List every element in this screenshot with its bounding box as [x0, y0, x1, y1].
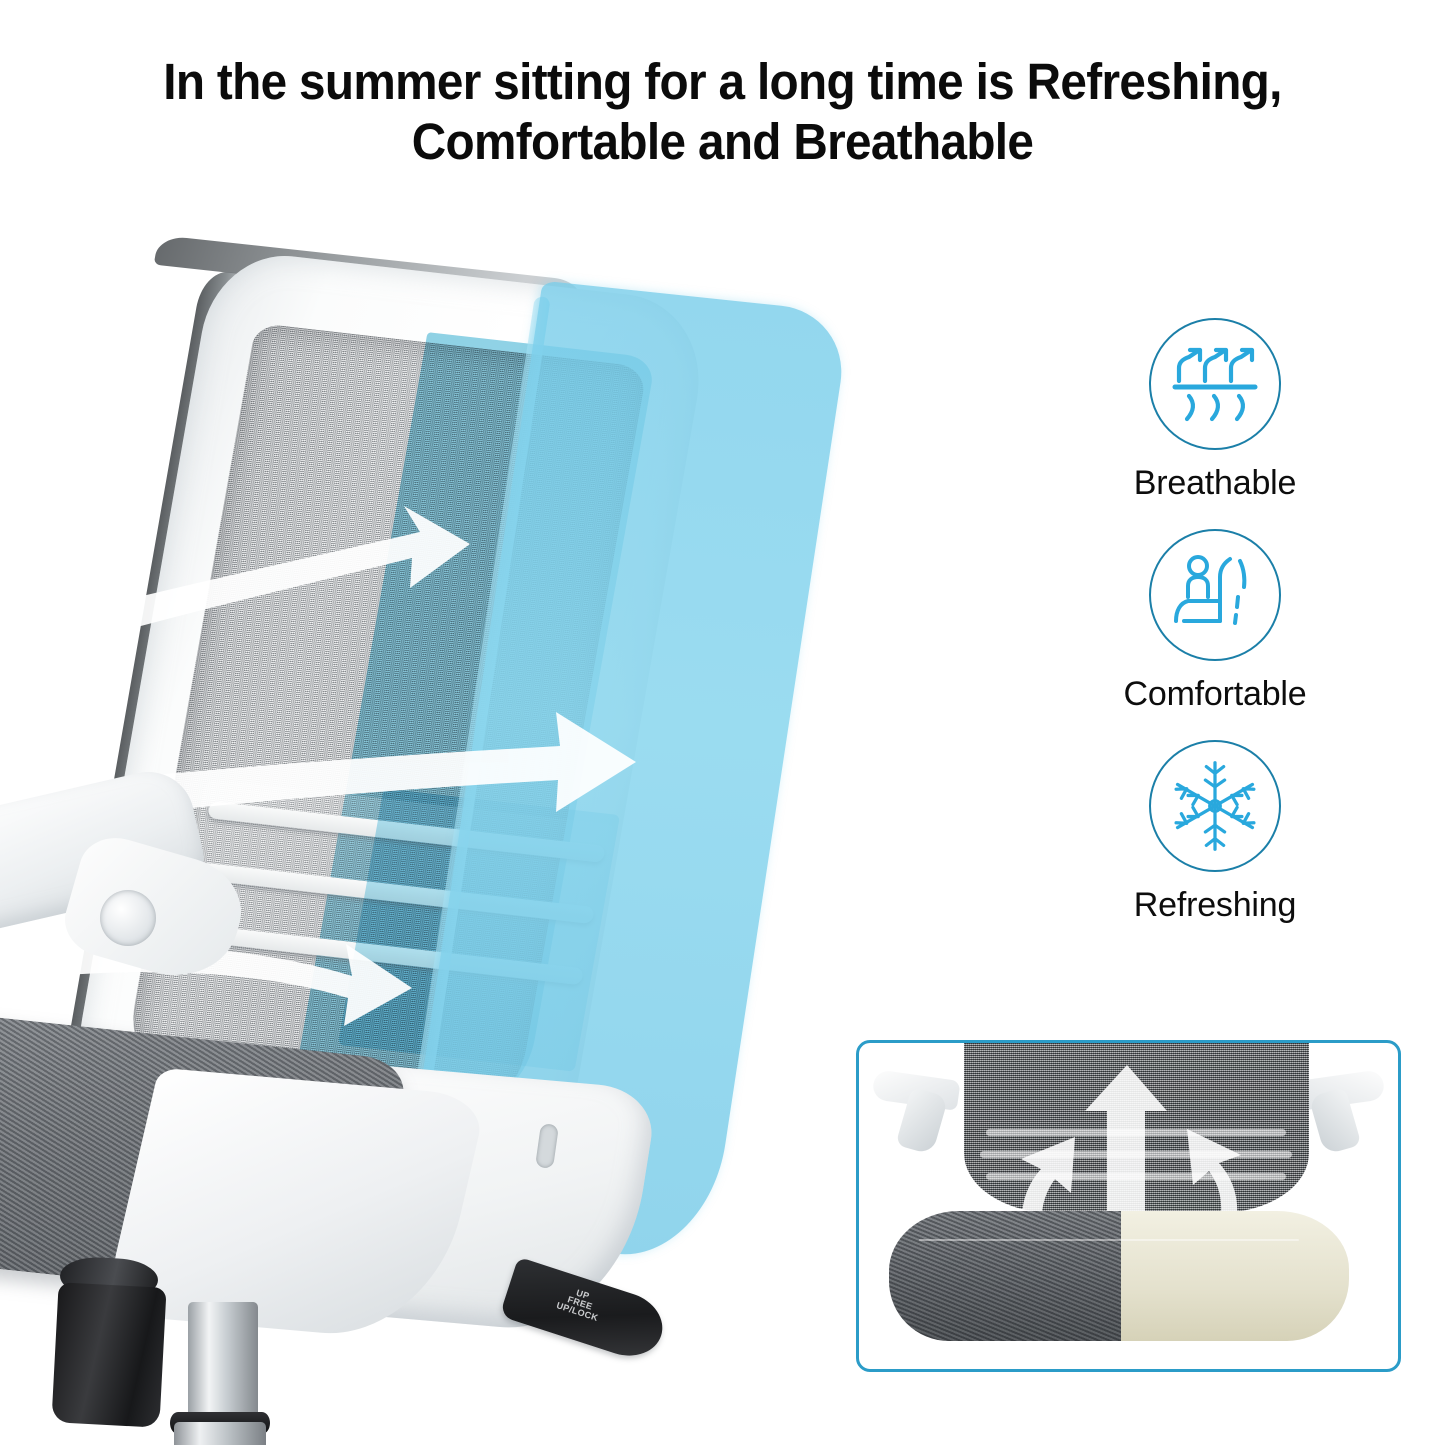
feature-label: Comfortable: [1065, 675, 1365, 714]
inset-seat-mesh-half: [889, 1211, 1121, 1341]
page-title: In the summer sitting for a long time is…: [47, 52, 1398, 171]
feature-label: Breathable: [1065, 464, 1365, 503]
feature-list: Breathable Comfortable: [1065, 318, 1365, 951]
inset-seat-seam: [919, 1239, 1299, 1241]
airflow-arrow-curved-top: [25, 506, 470, 654]
feature-icon-circle: [1149, 529, 1281, 661]
chair-front-airflow-cutaway-inset: [856, 1040, 1401, 1372]
airflow-arrows-group: [0, 440, 830, 1100]
airflow-breathable-icon: [1169, 341, 1261, 427]
feature-item-refreshing: Refreshing: [1065, 740, 1365, 925]
inset-airflow-arrow-center: [1085, 1065, 1167, 1235]
armrest-pivot-icon: [100, 890, 156, 946]
office-chair-rear-three-quarter-photo: UP FREE UP/LOCK: [0, 240, 860, 1445]
gas-cylinder-lower: [174, 1422, 266, 1445]
feature-item-comfortable: Comfortable: [1065, 529, 1365, 714]
feature-icon-circle: [1149, 740, 1281, 872]
feature-icon-circle: [1149, 318, 1281, 450]
product-feature-image: In the summer sitting for a long time is…: [0, 0, 1445, 1445]
height-adjust-knob: [51, 1282, 166, 1427]
inset-seat-foam-half: [1121, 1211, 1349, 1341]
feature-item-breathable: Breathable: [1065, 318, 1365, 503]
seated-person-comfort-icon: [1170, 553, 1260, 637]
feature-label: Refreshing: [1065, 886, 1365, 925]
snowflake-icon: [1167, 758, 1263, 854]
